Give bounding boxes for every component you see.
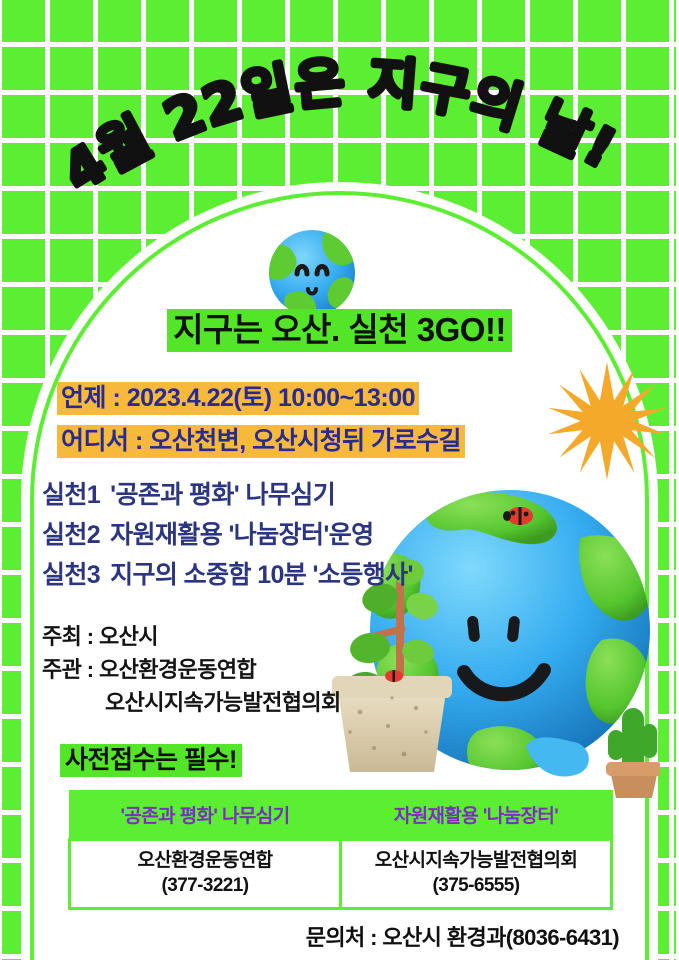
contact-org-name: 오산환경운동연합 [75, 848, 335, 873]
contact-phone: (375-6555) [346, 873, 606, 898]
practice-number: 실천1 [42, 481, 100, 509]
contact-phone: (377-3221) [75, 873, 335, 898]
practice-number: 실천3 [42, 561, 100, 589]
practice-number: 실천2 [42, 521, 100, 549]
organizer-host: 주최 : 오산시 [42, 620, 462, 653]
organizer-manager: 주관 : 오산환경운동연합 [42, 653, 462, 686]
practice-text: '공존과 평화' 나무심기 [110, 481, 335, 509]
practice-text: 자원재활용 '나눔장터'운영 [110, 521, 373, 549]
earth-day-poster: 4월 22일은 지구의 날! [0, 0, 679, 960]
table-cell: 오산시지속가능발전협의회 (375-6555) [341, 840, 612, 909]
event-where-line: 어디서 : 오산천변, 오산시청뒤 가로수길 [57, 421, 465, 457]
event-when-line: 언제 : 2023.4.22(토) 10:00~13:00 [57, 378, 419, 414]
practice-item: 실천2자원재활용 '나눔장터'운영 [42, 515, 562, 555]
table-cell: 오산환경운동연합 (377-3221) [70, 840, 341, 909]
organizer-block: 주최 : 오산시 주관 : 오산환경운동연합 오산시지속가능발전협의회 [42, 620, 462, 719]
event-where-text: 어디서 : 오산천변, 오산시청뒤 가로수길 [57, 425, 465, 458]
pre-registration-notice: 사전접수는 필수! [60, 740, 242, 776]
table-header-cell: '공존과 평화' 나무심기 [70, 791, 341, 840]
contact-org-name: 오산시지속가능발전협의회 [346, 848, 606, 873]
table-header-row: '공존과 평화' 나무심기 자원재활용 '나눔장터' [70, 791, 612, 840]
practice-item: 실천1'공존과 평화' 나무심기 [42, 475, 562, 515]
main-title-text: 지구는 오산. 실천 3GO!! [167, 309, 512, 352]
practice-item: 실천3지구의 소중함 10분 '소등행사' [42, 555, 562, 595]
organizer-manager-second: 오산시지속가능발전협의회 [42, 686, 462, 719]
table-row: 오산환경운동연합 (377-3221) 오산시지속가능발전협의회 (375-65… [70, 840, 612, 909]
registration-table: '공존과 평화' 나무심기 자원재활용 '나눔장터' 오산환경운동연합 (377… [68, 790, 613, 910]
page-title: 지구는 오산. 실천 3GO!! [0, 303, 679, 351]
practice-list: 실천1'공존과 평화' 나무심기 실천2자원재활용 '나눔장터'운영 실천3지구… [42, 475, 562, 595]
event-when-text: 언제 : 2023.4.22(토) 10:00~13:00 [57, 382, 419, 415]
footer-contact: 문의처 : 오산시 환경과(8036-6431) [0, 920, 679, 952]
pre-registration-notice-text: 사전접수는 필수! [60, 744, 242, 777]
table-header-cell: 자원재활용 '나눔장터' [341, 791, 612, 840]
practice-text: 지구의 소중함 10분 '소등행사' [110, 561, 413, 589]
poster-content: 지구는 오산. 실천 3GO!! 언제 : 2023.4.22(토) 10:00… [0, 0, 679, 960]
